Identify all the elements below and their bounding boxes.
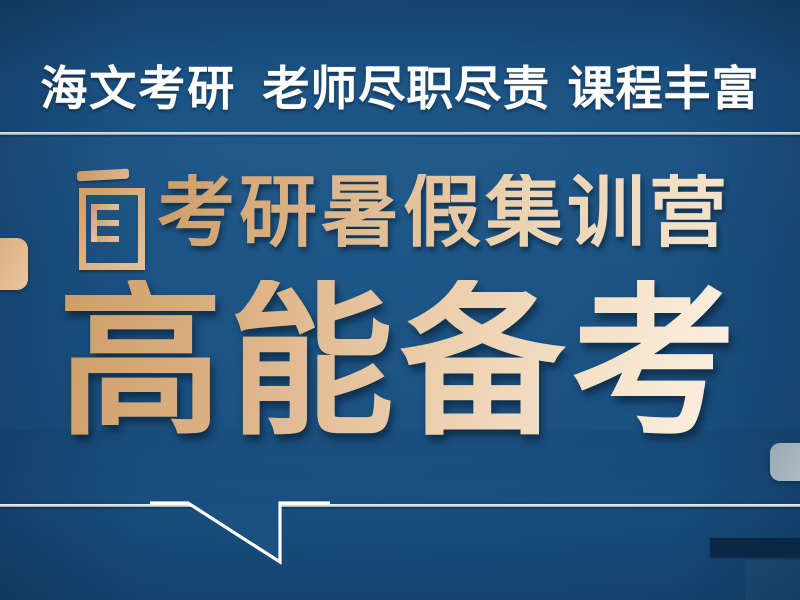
hundred-character-icon bbox=[69, 164, 143, 262]
hero-text: 高能备考 bbox=[58, 280, 742, 445]
hero-row: 高能备考 bbox=[0, 272, 800, 452]
decor-panel-shade bbox=[745, 560, 800, 600]
divider-bottom bbox=[0, 504, 800, 507]
subheadline-text: 考研暑假集训营 bbox=[157, 174, 731, 252]
divider-top bbox=[0, 132, 800, 135]
promo-poster: 海文考研 老师尽职尽责 课程丰富 考研暑假集训营 高能备考 bbox=[0, 0, 800, 600]
speech-bubble-tail-icon bbox=[150, 500, 330, 580]
headline-row: 海文考研 老师尽职尽责 课程丰富 bbox=[0, 58, 800, 120]
hundred-icon-inner-strokes bbox=[91, 204, 119, 242]
headline-tagline: 老师尽职尽责 课程丰富 bbox=[262, 66, 759, 113]
brand-name: 海文考研 bbox=[40, 66, 236, 113]
subheadline-row: 考研暑假集训营 bbox=[0, 158, 800, 268]
decor-bar-right-navy bbox=[710, 538, 800, 557]
hundred-icon-top-stroke bbox=[77, 169, 129, 182]
